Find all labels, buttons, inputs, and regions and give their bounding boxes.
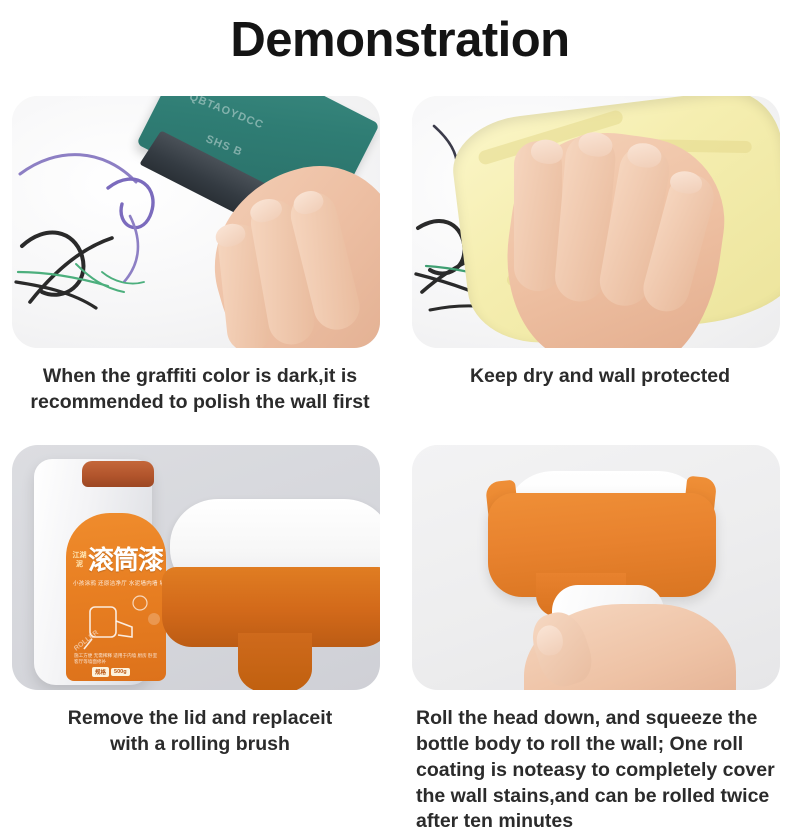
label-subtitle: 小孩涂鸦 还原洁净厅 水泥墙内墙 墙面修复膏 (73, 579, 161, 587)
step-card-2: Keep dry and wall protected (400, 96, 800, 415)
step-card-3: 江湖泥 滚筒漆 小孩涂鸦 还原洁净厅 水泥墙内墙 墙面修复膏 ROLLER (0, 445, 400, 835)
page-title: Demonstration (0, 14, 800, 68)
label-illustration: ROLLER (74, 593, 160, 655)
caption-line: the wall stains,and can be rolled twice (416, 784, 788, 810)
sponge-text-line1: QBTAOYDCC (188, 96, 266, 132)
caption-line: Remove the lid and replaceit (12, 706, 388, 732)
step-card-1: QBTAOYDCC SHS B When the graffiti co (0, 96, 400, 415)
svg-text:ROLLER: ROLLER (74, 630, 100, 653)
caption-line: after ten minutes (416, 809, 788, 835)
step-3-caption: Remove the lid and replaceit with a roll… (12, 706, 388, 757)
label-footer: 施工方便 无需稀释 适用于内墙 厨房 卧室 客厅等墙面修补 (74, 653, 160, 665)
steps-row-top: QBTAOYDCC SHS B When the graffiti co (0, 96, 800, 415)
caption-line: When the graffiti color is dark,it is (12, 364, 388, 390)
bottle-label: 江湖泥 滚筒漆 小孩涂鸦 还原洁净厅 水泥墙内墙 墙面修复膏 ROLLER (66, 513, 166, 681)
label-brand-mark: 江湖泥 (72, 551, 87, 570)
steps-row-bottom: 江湖泥 滚筒漆 小孩涂鸦 还原洁净厅 水泥墙内墙 墙面修复膏 ROLLER (0, 445, 800, 835)
roller-neck (238, 633, 312, 690)
step-3-photo: 江湖泥 滚筒漆 小孩涂鸦 还原洁净厅 水泥墙内墙 墙面修复膏 ROLLER (12, 445, 380, 690)
step-1-photo: QBTAOYDCC SHS B (12, 96, 380, 348)
step-4-photo (412, 445, 780, 690)
paint-bottle: 江湖泥 滚筒漆 小孩涂鸦 还原洁净厅 水泥墙内墙 墙面修复膏 ROLLER (34, 459, 152, 685)
caption-line: bottle body to roll the wall; One roll (416, 732, 788, 758)
caption-line: with a rolling brush (12, 732, 388, 758)
steps-grid: QBTAOYDCC SHS B When the graffiti co (0, 96, 800, 835)
caption-line: Roll the head down, and squeeze the (416, 706, 788, 732)
bottle-cap (82, 461, 154, 487)
label-weight-tags: 规格 500g (92, 667, 130, 677)
step-1-caption: When the graffiti color is dark,it is re… (12, 364, 388, 415)
label-title: 滚筒漆 (88, 547, 163, 573)
step-2-caption: Keep dry and wall protected (412, 364, 788, 390)
caption-line: recommended to polish the wall first (12, 390, 388, 416)
caption-line: coating is noteasy to completely cover (416, 758, 788, 784)
demonstration-infographic: Demonstration (0, 0, 800, 800)
caption-line: Keep dry and wall protected (412, 364, 788, 390)
step-4-caption: Roll the head down, and squeeze the bott… (412, 706, 788, 835)
step-card-4: Roll the head down, and squeeze the bott… (400, 445, 800, 835)
label-weight-tag: 规格 (92, 667, 109, 677)
thumbnail (535, 625, 564, 658)
label-weight-value: 500g (111, 668, 130, 676)
roller-brush-head (162, 493, 380, 690)
step-2-photo (412, 96, 780, 348)
